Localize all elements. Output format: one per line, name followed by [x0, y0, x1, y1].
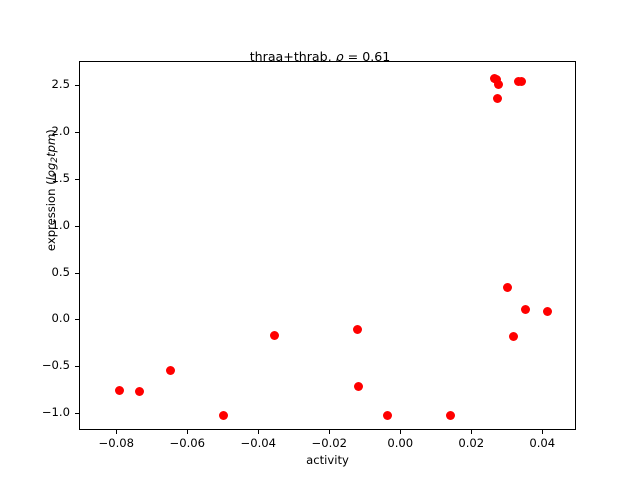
x-axis-tick — [542, 430, 543, 434]
y-axis-tick — [75, 366, 79, 367]
scatter-point — [115, 386, 124, 395]
y-axis-tick — [75, 273, 79, 274]
x-axis-tick-label: 0.00 — [360, 436, 440, 450]
x-axis-tick — [116, 430, 117, 434]
scatter-point — [521, 305, 530, 314]
scatter-point — [543, 307, 552, 316]
x-axis-tick — [187, 430, 188, 434]
x-axis-tick — [400, 430, 401, 434]
y-axis-tick-label: −0.5 — [0, 358, 70, 372]
y-axis-tick — [75, 132, 79, 133]
y-axis-label: expression (log2tpm) — [44, 40, 60, 340]
y-axis-tick — [75, 319, 79, 320]
x-axis-tick — [471, 430, 472, 434]
scatter-point — [503, 283, 512, 292]
y-axis-label-unit: tpm — [44, 134, 58, 157]
x-axis-tick-label: −0.04 — [218, 436, 298, 450]
x-axis-tick-label: 0.04 — [502, 436, 582, 450]
y-axis-label-prefix: expression ( — [44, 180, 58, 251]
scatter-point — [446, 411, 455, 420]
x-axis-tick-label: −0.02 — [289, 436, 369, 450]
x-axis-tick-label: 0.02 — [431, 436, 511, 450]
scatter-point — [135, 387, 144, 396]
scatter-plot-figure: thraa+thrab, ρ = 0.61 dr11_v1_chr12_-_21… — [0, 0, 640, 480]
y-axis-tick — [75, 85, 79, 86]
x-axis-tick — [329, 430, 330, 434]
x-axis-tick-label: −0.06 — [147, 436, 227, 450]
scatter-point — [166, 366, 175, 375]
scatter-point — [354, 382, 363, 391]
plot-axes-frame — [79, 61, 576, 430]
y-axis-tick-label: −1.0 — [0, 405, 70, 419]
scatter-point — [509, 332, 518, 341]
scatter-point — [270, 331, 279, 340]
scatter-point — [517, 77, 526, 86]
scatter-point — [383, 411, 392, 420]
y-axis-tick — [75, 179, 79, 180]
y-axis-label-log: log — [44, 163, 58, 181]
scatter-point — [494, 80, 503, 89]
x-axis-label: activity — [79, 453, 576, 467]
y-axis-label-subscript: 2 — [50, 157, 60, 163]
scatter-point — [493, 94, 502, 103]
y-axis-tick — [75, 413, 79, 414]
scatter-point — [353, 325, 362, 334]
x-axis-tick-label: −0.08 — [76, 436, 156, 450]
x-axis-tick — [258, 430, 259, 434]
scatter-point — [219, 411, 228, 420]
y-axis-label-suffix: ) — [44, 129, 58, 134]
y-axis-tick — [75, 226, 79, 227]
plot-data-area — [80, 62, 575, 429]
